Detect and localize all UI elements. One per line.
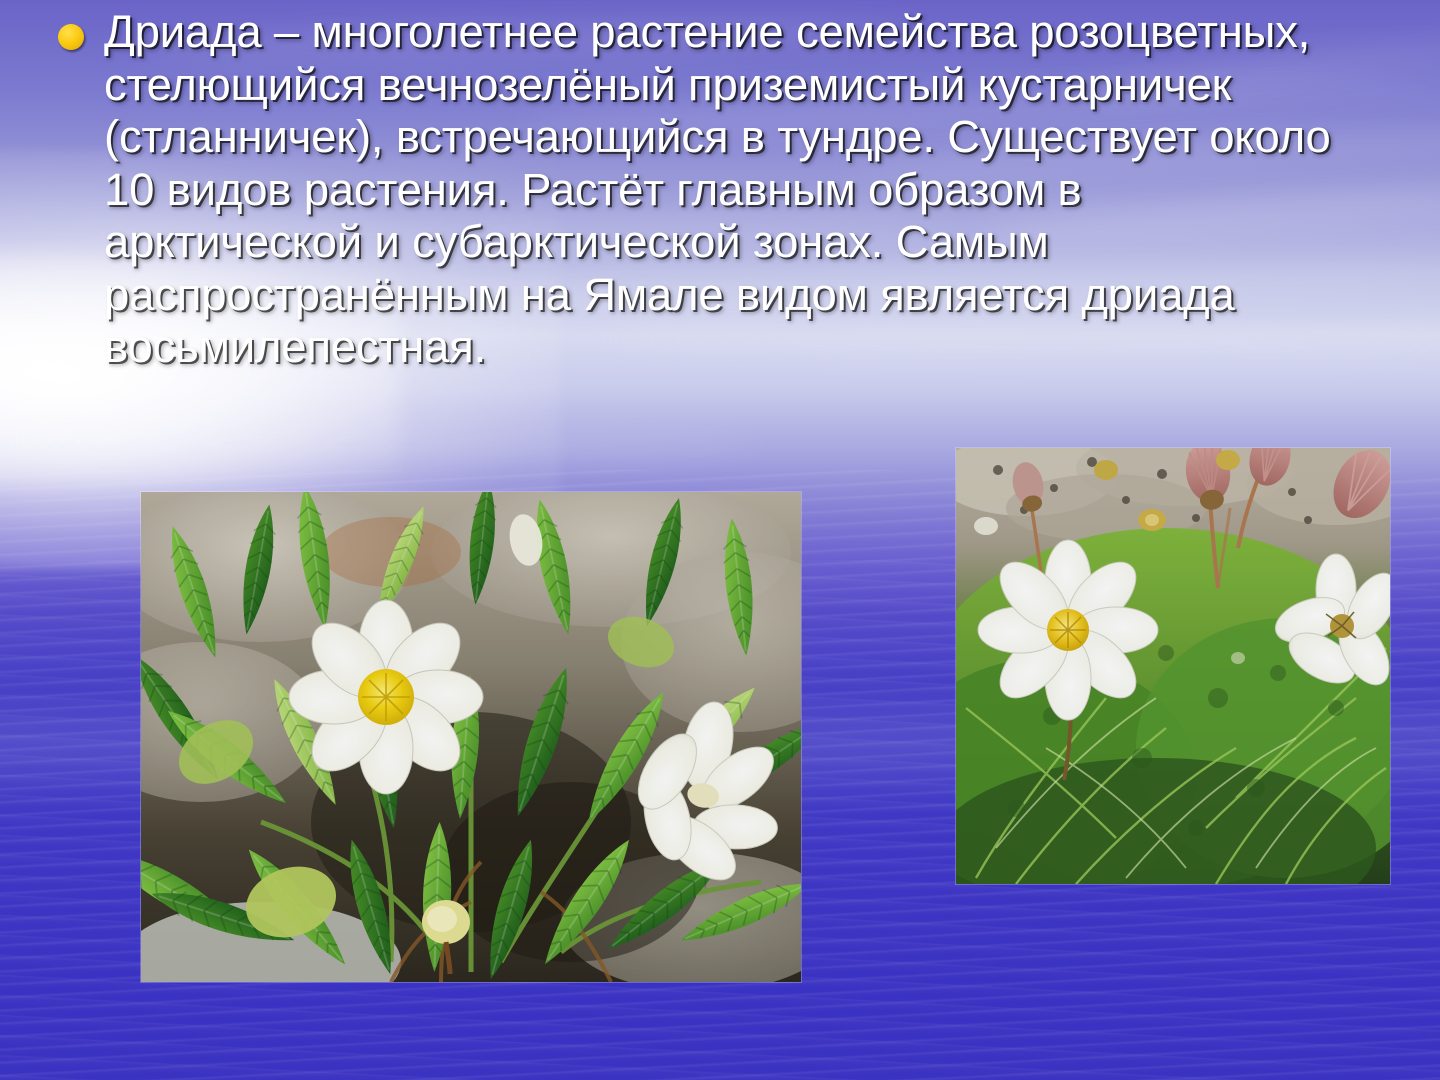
presentation-slide: Дриада – многолетнее растение семейства …: [0, 0, 1440, 1080]
bullet-text: Дриада – многолетнее растение семейства …: [104, 6, 1348, 374]
dryas-closeup-image: [141, 492, 801, 982]
bullet-list-item: Дриада – многолетнее растение семейства …: [58, 6, 1348, 374]
bullet-marker-icon: [58, 24, 84, 50]
dryas-tundra-photo: [956, 448, 1390, 884]
dryas-tundra-image: [956, 448, 1390, 884]
dryas-closeup-photo: [141, 492, 801, 982]
